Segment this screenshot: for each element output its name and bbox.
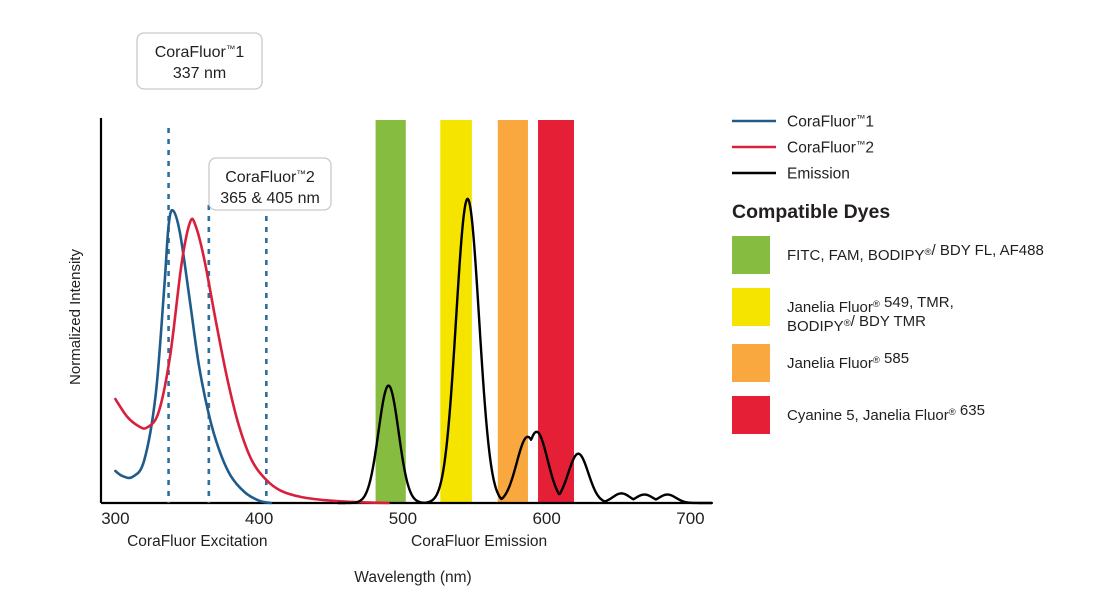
dye-label-2-line-0: Janelia Fluor® 585	[787, 350, 909, 372]
x-axis-title: Wavelength (nm)	[354, 569, 471, 586]
region-label-excitation: CoraFluor Excitation	[127, 533, 267, 550]
callout-corafluor-1: CoraFluor™1337 nm	[137, 33, 262, 89]
dye-legend-item-3[interactable]: Cyanine 5, Janelia Fluor® 635	[732, 396, 985, 434]
dye-label-1-line-1: BODIPY®/ BDY TMR	[787, 313, 926, 335]
callout-corafluor-1-line2: 337 nm	[173, 65, 226, 82]
dye-swatch-3	[732, 396, 770, 434]
callout-corafluor-2: CoraFluor™2365 & 405 nm	[209, 158, 331, 210]
legend-series-label-0: CoraFluor™1	[787, 114, 874, 131]
y-axis-title: Normalized Intensity	[67, 249, 84, 385]
x-tick-700: 700	[676, 509, 704, 528]
x-tick-500: 500	[389, 509, 417, 528]
y-axis-label: Normalized Intensity	[67, 249, 84, 385]
compatible-dyes-heading: Compatible Dyes	[732, 201, 890, 223]
dye-swatch-2	[732, 344, 770, 382]
dye-label-0-line-0: FITC, FAM, BODIPY®/ BDY FL, AF488	[787, 242, 1044, 264]
x-axis-labels: 300400500600700CoraFluor ExcitationCoraF…	[101, 509, 704, 586]
callout-corafluor-2-line2: 365 & 405 nm	[220, 190, 320, 207]
peak-callouts: CoraFluor™1337 nmCoraFluor™2365 & 405 nm	[137, 33, 331, 210]
curve-CoraFluor1	[115, 210, 270, 503]
x-tick-300: 300	[101, 509, 129, 528]
x-tick-600: 600	[532, 509, 560, 528]
legend: CoraFluor™1CoraFluor™2EmissionCompatible…	[732, 114, 1044, 435]
legend-series-label-1: CoraFluor™2	[787, 140, 874, 157]
legend-series-label-2: Emission	[787, 166, 850, 183]
legend-series-item-2[interactable]: Emission	[732, 166, 850, 183]
spectra-figure: 300400500600700CoraFluor ExcitationCoraF…	[0, 0, 1110, 612]
spectra-curves	[115, 199, 711, 503]
curve-CoraFluor2	[115, 219, 388, 503]
dye-legend-item-2[interactable]: Janelia Fluor® 585	[732, 344, 909, 382]
dye-label-3-line-0: Cyanine 5, Janelia Fluor® 635	[787, 402, 985, 424]
x-tick-400: 400	[245, 509, 273, 528]
region-label-emission: CoraFluor Emission	[411, 533, 547, 550]
dye-legend-item-0[interactable]: FITC, FAM, BODIPY®/ BDY FL, AF488	[732, 236, 1044, 274]
dye-legend-item-1[interactable]: Janelia Fluor® 549, TMR,BODIPY®/ BDY TMR	[732, 288, 954, 335]
legend-series-item-0[interactable]: CoraFluor™1	[732, 114, 874, 131]
legend-series-item-1[interactable]: CoraFluor™2	[732, 140, 874, 157]
dye-swatch-1	[732, 288, 770, 326]
dye-swatch-0	[732, 236, 770, 274]
orange-band	[498, 120, 528, 503]
plot-axes	[101, 118, 712, 503]
